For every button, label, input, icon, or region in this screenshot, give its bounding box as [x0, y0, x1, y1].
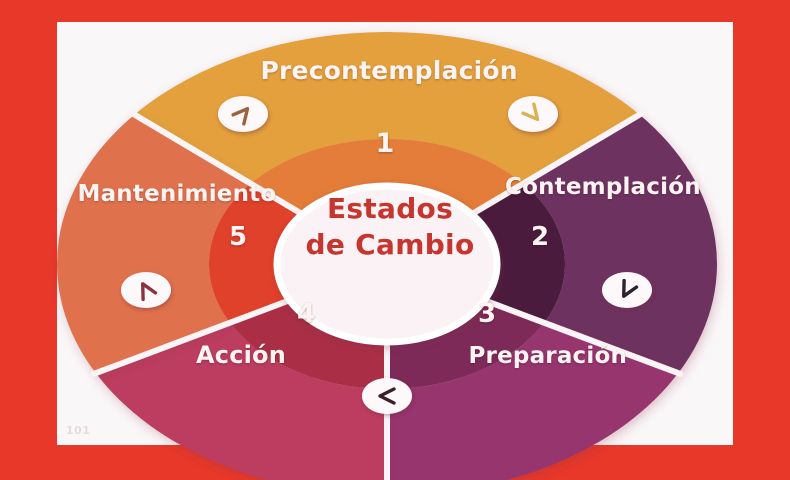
center-title-line2: de Cambio — [285, 228, 495, 261]
marker-top-left[interactable] — [218, 96, 268, 132]
marker-bottom[interactable] — [362, 378, 412, 414]
marker-left[interactable] — [121, 272, 171, 308]
marker-right[interactable] — [602, 272, 652, 308]
marker-top-right[interactable] — [508, 96, 558, 132]
marker-capsule — [602, 272, 652, 308]
marker-capsule — [121, 272, 171, 308]
marker-capsule — [362, 378, 412, 414]
marker-capsule — [218, 96, 268, 132]
center-hub-text: Estados de Cambio — [285, 176, 495, 298]
infographic-canvas: Precontemplación1Contemplación2Preparaci… — [0, 0, 790, 480]
watermark-text: 101 — [66, 424, 90, 437]
marker-capsule — [508, 96, 558, 132]
center-title-line1: Estados — [285, 192, 495, 225]
